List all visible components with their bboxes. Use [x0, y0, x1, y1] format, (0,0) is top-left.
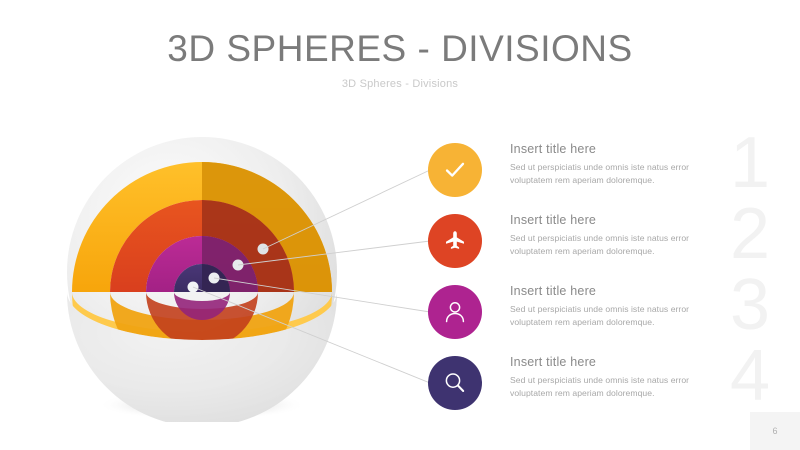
- row-description: Sed ut perspiciatis unde omnis iste natu…: [510, 161, 730, 188]
- row-text-block: Insert title here Sed ut perspiciatis un…: [510, 355, 730, 401]
- magnifier-icon: [442, 370, 468, 396]
- icon-badge-magnifier[interactable]: [428, 356, 482, 410]
- anchor-dot-3: [209, 273, 220, 284]
- row-title: Insert title here: [510, 213, 730, 227]
- row-watermark-number: 1: [730, 127, 770, 199]
- page-title: 3D SPHERES - DIVISIONS: [0, 28, 800, 70]
- row-watermark-number: 3: [730, 269, 770, 341]
- anchor-dot-2: [233, 260, 244, 271]
- row-description: Sed ut perspiciatis unde omnis iste natu…: [510, 303, 730, 330]
- page-number: 6: [772, 426, 777, 436]
- row-title: Insert title here: [510, 355, 730, 369]
- sphere-svg: [62, 132, 342, 422]
- row-watermark-number: 2: [730, 198, 770, 270]
- row-description: Sed ut perspiciatis unde omnis iste natu…: [510, 374, 730, 401]
- row-description: Sed ut perspiciatis unde omnis iste natu…: [510, 232, 730, 259]
- person-icon: [442, 299, 468, 325]
- list-item[interactable]: 3 Insert title here Sed ut perspiciatis …: [428, 285, 758, 355]
- sphere-diagram: [62, 132, 342, 422]
- row-text-block: Insert title here Sed ut perspiciatis un…: [510, 284, 730, 330]
- page-subtitle: 3D Spheres - Divisions: [0, 78, 800, 90]
- check-icon: [442, 157, 468, 183]
- icon-badge-person[interactable]: [428, 285, 482, 339]
- list-item[interactable]: 1 Insert title here Sed ut perspiciatis …: [428, 143, 758, 213]
- slide: 3D SPHERES - DIVISIONS 3D Spheres - Divi…: [0, 0, 800, 450]
- page-number-badge: 6: [750, 412, 800, 450]
- airplane-icon: [442, 228, 468, 254]
- row-text-block: Insert title here Sed ut perspiciatis un…: [510, 142, 730, 188]
- anchor-dot-1: [258, 244, 269, 255]
- list-item[interactable]: 2 Insert title here Sed ut perspiciatis …: [428, 214, 758, 284]
- row-title: Insert title here: [510, 284, 730, 298]
- icon-badge-check[interactable]: [428, 143, 482, 197]
- icon-badge-airplane[interactable]: [428, 214, 482, 268]
- anchor-dot-4: [188, 282, 199, 293]
- row-title: Insert title here: [510, 142, 730, 156]
- row-watermark-number: 4: [730, 340, 770, 412]
- list-item[interactable]: 4 Insert title here Sed ut perspiciatis …: [428, 356, 758, 426]
- row-text-block: Insert title here Sed ut perspiciatis un…: [510, 213, 730, 259]
